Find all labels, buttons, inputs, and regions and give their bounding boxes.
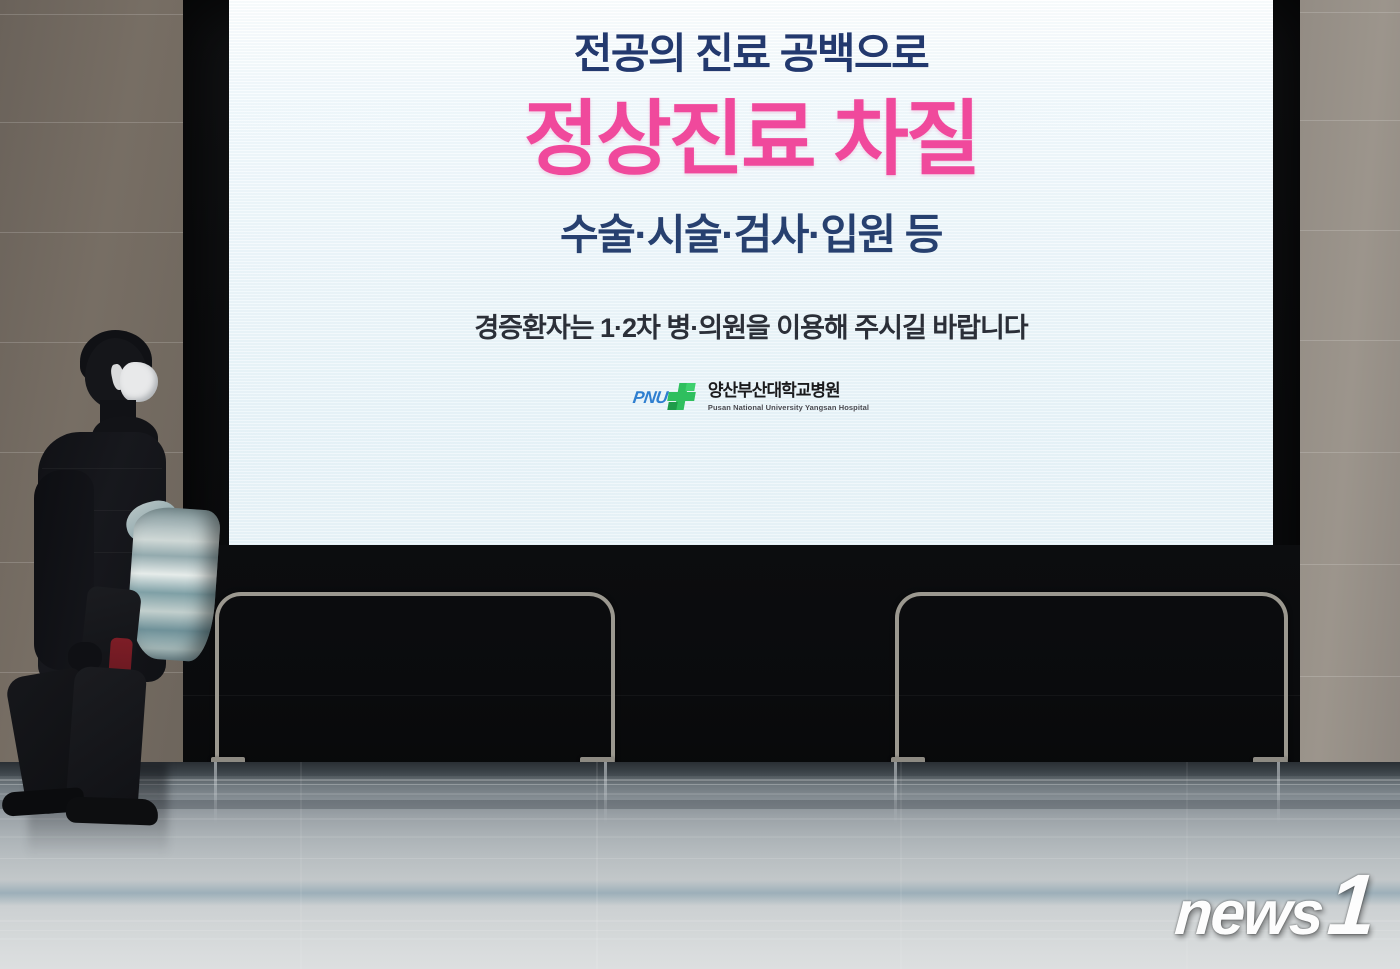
striped-blanket (125, 505, 221, 663)
wall-panel-right (1300, 0, 1400, 800)
guard-rail-right (895, 592, 1288, 766)
person-shoe-front (66, 796, 159, 825)
notice-subheadline: 수술·시술·검사·입원 등 (560, 211, 942, 259)
hospital-name-en: Pusan National University Yangsan Hospit… (708, 403, 869, 412)
face-mask-icon (120, 362, 158, 402)
pnu-logo-mark: PNU (633, 384, 699, 410)
hospital-logo: PNU 양산부산대학교병원 Pusan National University … (633, 382, 869, 412)
watermark-word: news (1173, 878, 1325, 949)
green-medical-cross-icon (666, 383, 696, 410)
pnu-wordmark: PNU (631, 388, 668, 408)
notice-eyebrow: 전공의 진료 공백으로 (574, 30, 929, 78)
pedestrian-figure (0, 320, 230, 840)
news1-watermark: news 1 (1175, 869, 1374, 949)
led-notice-screen: 전공의 진료 공백으로 정상진료 차질 수술·시술·검사·입원 등 경증환자는 … (229, 0, 1273, 545)
guard-rail-left (215, 592, 615, 766)
notice-body-text: 경증환자는 1·2차 병·의원을 이용해 주시길 바랍니다 (474, 311, 1027, 346)
watermark-digit: 1 (1326, 869, 1377, 942)
notice-headline: 정상진료 차질 (524, 96, 978, 185)
photo-scene: 전공의 진료 공백으로 정상진료 차질 수술·시술·검사·입원 등 경증환자는 … (0, 0, 1400, 969)
hospital-name-block: 양산부산대학교병원 Pusan National University Yang… (708, 382, 869, 412)
hospital-name-ko: 양산부산대학교병원 (708, 382, 840, 401)
